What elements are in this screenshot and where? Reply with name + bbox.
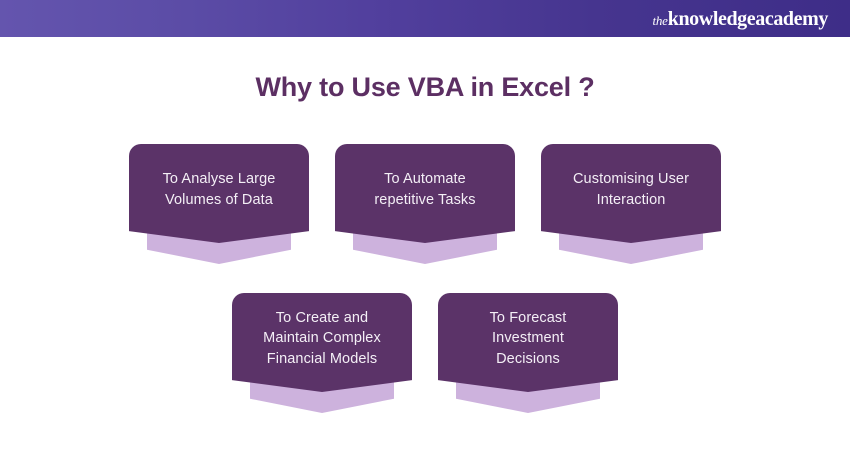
card-item[interactable]: To Automate repetitive Tasks — [335, 144, 515, 269]
page-title: Why to Use VBA in Excel ? — [0, 72, 850, 103]
card-body[interactable]: To Analyse Large Volumes of Data — [129, 144, 309, 243]
card-label: To Create and Maintain Complex Financial… — [263, 308, 381, 370]
card-item[interactable]: To Forecast Investment Decisions — [438, 293, 618, 418]
card-row-1: To Analyse Large Volumes of Data To Auto… — [0, 144, 850, 269]
card-body[interactable]: To Automate repetitive Tasks — [335, 144, 515, 243]
brand-logo[interactable]: theknowledgeacademy — [652, 9, 828, 29]
card-body[interactable]: Customising User Interaction — [541, 144, 721, 243]
card-label: To Automate repetitive Tasks — [374, 169, 475, 210]
card-row-2: To Create and Maintain Complex Financial… — [0, 293, 850, 418]
card-label: To Forecast Investment Decisions — [490, 308, 567, 370]
card-item[interactable]: To Analyse Large Volumes of Data — [129, 144, 309, 269]
brand-header-bar: theknowledgeacademy — [0, 0, 850, 37]
infographic-page: theknowledgeacademy Why to Use VBA in Ex… — [0, 0, 850, 450]
card-body[interactable]: To Create and Maintain Complex Financial… — [232, 293, 412, 392]
card-item[interactable]: Customising User Interaction — [541, 144, 721, 269]
card-label: Customising User Interaction — [573, 169, 689, 210]
card-item[interactable]: To Create and Maintain Complex Financial… — [232, 293, 412, 418]
card-label: To Analyse Large Volumes of Data — [163, 169, 276, 210]
brand-logo-prefix: the — [652, 13, 667, 28]
brand-logo-name: knowledgeacademy — [668, 8, 828, 30]
card-body[interactable]: To Forecast Investment Decisions — [438, 293, 618, 392]
